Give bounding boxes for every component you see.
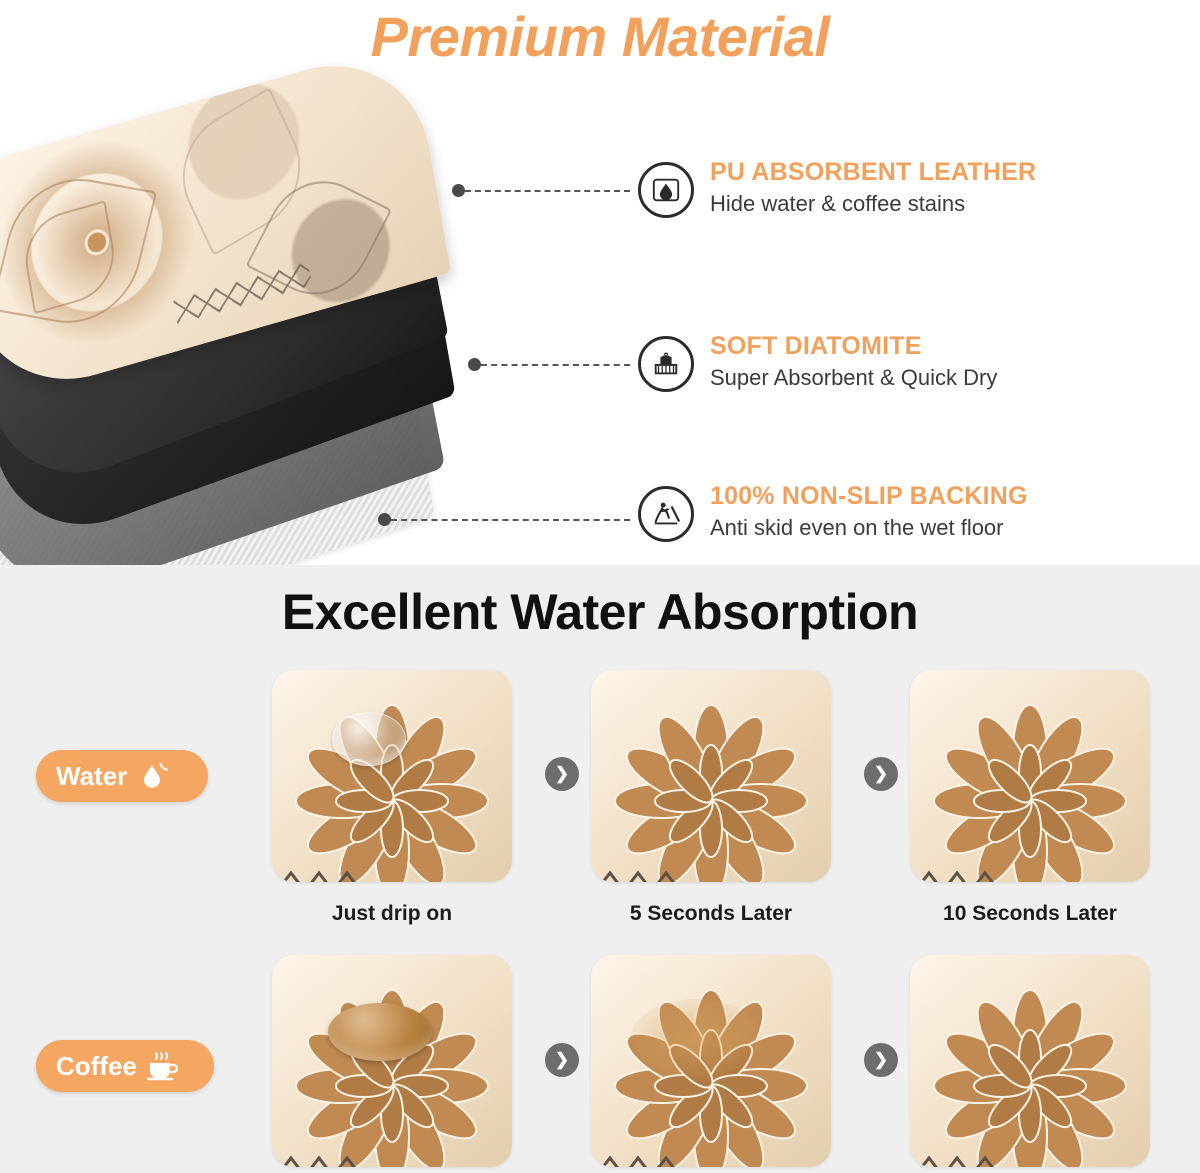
callout-2-text: SOFT DIATOMITE Super Absorbent & Quick D… xyxy=(710,332,997,391)
coffee-stain xyxy=(631,999,761,1077)
arrow-water-2: ❯ xyxy=(864,757,898,791)
diatomite-icon xyxy=(638,336,694,392)
callout-2-title: SOFT DIATOMITE xyxy=(710,332,997,361)
mat-layers-illustration xyxy=(0,75,510,555)
leader-dot-2 xyxy=(468,358,481,371)
water-step-2-caption: 5 Seconds Later xyxy=(591,902,831,926)
leader-line-2 xyxy=(481,364,630,366)
flower-pattern xyxy=(920,691,1140,882)
water-step-1-caption: Just drip on xyxy=(272,902,512,926)
premium-material-section: Premium Material xyxy=(0,0,1200,565)
coffee-step-1-image xyxy=(272,955,512,1167)
water-step-3-image xyxy=(910,670,1150,882)
callout-1-subtitle: Hide water & coffee stains xyxy=(710,191,1036,217)
badge-coffee-row: Coffee xyxy=(36,1040,214,1092)
water-droplet xyxy=(332,712,406,766)
badge-water-label: Water xyxy=(56,761,127,792)
flower-pattern xyxy=(920,976,1140,1167)
water-absorption-section: Excellent Water Absorption Water xyxy=(0,565,1200,1173)
arrow-water-1: ❯ xyxy=(545,757,579,791)
coffee-step-3-image xyxy=(910,955,1150,1167)
callout-2-subtitle: Super Absorbent & Quick Dry xyxy=(710,365,997,391)
callout-3-subtitle: Anti skid even on the wet floor xyxy=(710,515,1028,541)
leader-dot-3 xyxy=(378,513,391,526)
no-slip-icon xyxy=(638,486,694,542)
coffee-droplet xyxy=(328,1003,432,1061)
coffee-step-2-image xyxy=(591,955,831,1167)
coffee-cup-icon xyxy=(145,1049,181,1083)
water-drop-icon xyxy=(135,759,169,793)
arrow-coffee-2: ❯ xyxy=(864,1043,898,1077)
callout-1-text: PU ABSORBENT LEATHER Hide water & coffee… xyxy=(710,158,1036,217)
water-step-1-image xyxy=(272,670,512,882)
leader-line-1 xyxy=(465,190,630,192)
badge-water: Water xyxy=(36,750,208,802)
product-infographic: Premium Material xyxy=(0,0,1200,1173)
leader-dot-1 xyxy=(452,184,465,197)
water-absorption-title: Excellent Water Absorption xyxy=(0,583,1200,641)
arrow-coffee-1: ❯ xyxy=(545,1043,579,1077)
water-step-3-caption: 10 Seconds Later xyxy=(910,902,1150,926)
callout-1-title: PU ABSORBENT LEATHER xyxy=(710,158,1036,187)
water-step-2-image xyxy=(591,670,831,882)
callout-3-title: 100% NON-SLIP BACKING xyxy=(710,482,1028,511)
callout-3-text: 100% NON-SLIP BACKING Anti skid even on … xyxy=(710,482,1028,541)
badge-coffee-label: Coffee xyxy=(56,1051,137,1082)
flower-pattern xyxy=(601,691,821,882)
premium-material-title: Premium Material xyxy=(0,4,1200,69)
leader-line-3 xyxy=(391,519,630,521)
water-drop-icon xyxy=(638,162,694,218)
